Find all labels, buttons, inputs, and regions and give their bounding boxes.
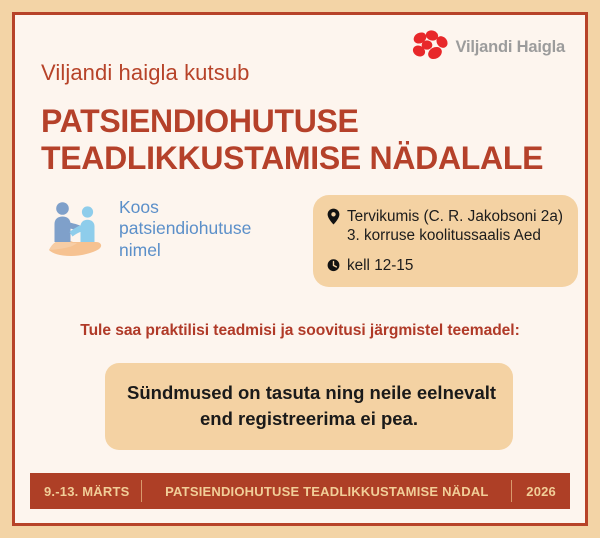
two-people-in-hand-icon [47, 198, 113, 260]
campaign-logo-line-1: Koos [119, 197, 251, 218]
event-location-text: Tervikumis (C. R. Jakobsoni 2a) 3. korru… [347, 207, 563, 245]
event-time-line-1: kell 12-15 [347, 256, 413, 275]
campaign-logo-line-3: nimel [119, 240, 251, 261]
footer-divider-right [511, 480, 512, 502]
hospital-brand-logo: Viljandi Haigla [411, 29, 565, 65]
note-line-2: end registreerima ei pea. [127, 406, 491, 432]
event-location: Tervikumis (C. R. Jakobsoni 2a) 3. korru… [327, 207, 566, 245]
campaign-logo: Koos patsiendiohutuse nimel [47, 197, 251, 261]
headline-line-1: PATSIENDIOHUTUSE [41, 103, 575, 140]
note-line-1: Sündmused on tasuta ning neile eelnevalt [127, 380, 491, 406]
page-title: PATSIENDIOHUTUSE TEADLIKKUSTAMISE NÄDALA… [41, 103, 575, 177]
hospital-brand-name: Viljandi Haigla [456, 38, 565, 57]
flower-logo-icon [411, 29, 449, 65]
mid-row: Koos patsiendiohutuse nimel Tervikumis (… [15, 185, 591, 290]
campaign-logo-line-2: patsiendiohutuse [119, 218, 251, 239]
event-time: kell 12-15 [327, 256, 566, 275]
event-info-box: Tervikumis (C. R. Jakobsoni 2a) 3. korru… [313, 195, 578, 287]
event-location-line-1: Tervikumis (C. R. Jakobsoni 2a) [347, 207, 563, 226]
free-entry-note-box: Sündmused on tasuta ning neile eelnevalt… [105, 363, 513, 450]
footer-year: 2026 [524, 484, 556, 499]
footer-campaign-title: PATSIENDIOHUTUSE TEADLIKKUSTAMISE NÄDAL [154, 484, 499, 499]
event-time-text: kell 12-15 [347, 256, 413, 275]
map-pin-icon [327, 208, 340, 225]
footer-bar: 9.-13. MÄRTS PATSIENDIOHUTUSE TEADLIKKUS… [30, 473, 570, 509]
campaign-logo-text: Koos patsiendiohutuse nimel [119, 197, 251, 261]
kicker-text: Viljandi haigla kutsub [41, 60, 250, 86]
footer-dates: 9.-13. MÄRTS [44, 484, 129, 499]
footer-divider-left [141, 480, 142, 502]
poster-root: Viljandi Haigla Viljandi haigla kutsub P… [0, 0, 600, 538]
poster-card: Viljandi Haigla Viljandi haigla kutsub P… [12, 12, 588, 526]
topics-lead-text: Tule saa praktilisi teadmisi ja soovitus… [15, 322, 585, 340]
event-location-line-2: 3. korruse koolitussaalis Aed [347, 226, 563, 245]
headline-line-2: TEADLIKKUSTAMISE NÄDALALE [41, 140, 575, 177]
clock-icon [327, 257, 340, 274]
